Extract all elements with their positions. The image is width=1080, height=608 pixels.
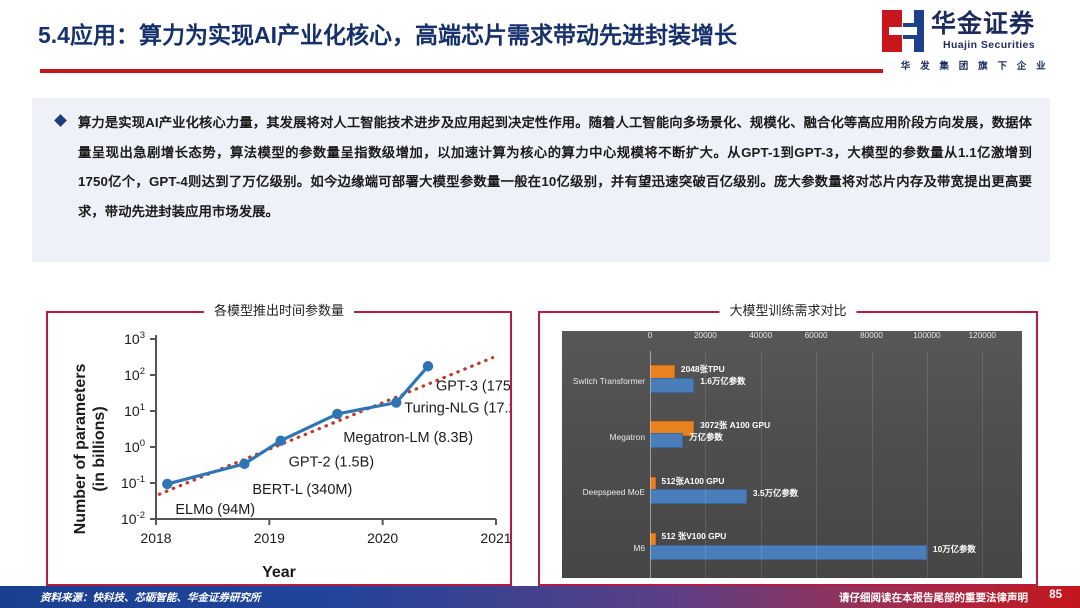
footer-source: 资料来源：快科技、芯砺智能、华金证券研究所 [40, 590, 261, 605]
bar-value-label: 万亿参数 [683, 431, 723, 443]
logo-name-cn: 华金证券 [931, 11, 1035, 37]
svg-text:102: 102 [124, 366, 145, 383]
svg-text:2019: 2019 [254, 530, 285, 546]
bar-chart-rows: Switch Transformer2048张TPU1.6万亿参数Megatro… [562, 353, 1022, 576]
svg-text:Megatron-LM (8.3B): Megatron-LM (8.3B) [343, 430, 473, 446]
page-footer: 资料来源：快科技、芯砺智能、华金证券研究所 请仔细阅读在本报告尾部的重要法律声明… [0, 586, 1080, 608]
svg-text:100: 100 [124, 438, 145, 455]
bar-params [650, 378, 694, 393]
x-tick-label: 40000 [749, 331, 772, 340]
header-divider [40, 69, 883, 73]
svg-text:ELMo (94M): ELMo (94M) [175, 502, 255, 518]
bar-group: Deepspeed MoE512张A100 GPU3.5万亿参数 [562, 465, 1022, 521]
svg-text:10-2: 10-2 [121, 510, 145, 527]
svg-text:GPT-2 (1.5B): GPT-2 (1.5B) [289, 455, 374, 471]
svg-text:101: 101 [124, 402, 145, 419]
x-tick-label: 20000 [694, 331, 717, 340]
svg-text:103: 103 [124, 330, 145, 347]
bar-chart-x-axis: 020000400006000080000100000120000 [562, 331, 1022, 351]
gridline [816, 351, 817, 578]
bar-category-label: M6 [562, 543, 650, 553]
bar-value-label: 512 张V100 GPU [656, 530, 727, 542]
logo-name-en: Huajin Securities [931, 39, 1035, 51]
page-title: 5.4应用：算力为实现AI产业化核心，高端芯片需求带动先进封装增长 [38, 16, 737, 50]
gridline [872, 351, 873, 578]
chart-title-right: 大模型训练需求对比 [719, 300, 856, 319]
chart-panel-right: 大模型训练需求对比 020000400006000080000100000120… [538, 311, 1038, 586]
bar-value-label: 512张A100 GPU [656, 475, 725, 487]
svg-text:Turing-NLG (17.2B): Turing-NLG (17.2B) [404, 401, 510, 417]
x-tick-label: 100000 [913, 331, 940, 340]
content-paragraph: 算力是实现AI产业化核心力量，其发展将对人工智能技术进步及应用起到决定性作用。随… [78, 108, 1032, 226]
logo-mark-icon [882, 10, 924, 52]
diamond-bullet-icon [54, 114, 67, 127]
chart-title-left: 各模型推出时间参数量 [204, 300, 354, 319]
page-number: 85 [1049, 589, 1062, 601]
bar-category-label: Switch Transformer [562, 376, 650, 386]
gridline [705, 351, 706, 578]
logo-tagline: 华 发 集 团 旗 下 企 业 [882, 58, 1068, 72]
bar-value-label: 1.6万亿参数 [694, 375, 745, 387]
x-tick-label: 120000 [969, 331, 996, 340]
svg-text:2020: 2020 [367, 530, 398, 546]
svg-text:2018: 2018 [140, 530, 171, 546]
company-logo: 华金证券 Huajin Securities 华 发 集 团 旗 下 企 业 [882, 8, 1068, 80]
bar-value-label: 3.5万亿参数 [747, 487, 798, 499]
svg-text:BERT-L (340M): BERT-L (340M) [252, 482, 352, 498]
bar-category-label: Megatron [562, 432, 650, 442]
bar-group: Switch Transformer2048张TPU1.6万亿参数 [562, 353, 1022, 409]
line-chart-svg: 10-210-11001011021032018201920202021ELMo… [48, 313, 510, 563]
svg-text:10-1: 10-1 [121, 474, 145, 491]
gridline [982, 351, 983, 578]
x-tick-label: 60000 [805, 331, 828, 340]
content-callout-box: 算力是实现AI产业化核心力量，其发展将对人工智能技术进步及应用起到决定性作用。随… [32, 98, 1050, 262]
x-axis-label-left: Year [48, 564, 510, 582]
bar-group: M6512 张V100 GPU10万亿参数 [562, 520, 1022, 576]
svg-text:GPT-3 (175B): GPT-3 (175B) [436, 378, 510, 394]
bar-params [650, 489, 747, 504]
bar-params [650, 433, 683, 448]
gridline [761, 351, 762, 578]
bar-params [650, 545, 927, 560]
page-header: 5.4应用：算力为实现AI产业化核心，高端芯片需求带动先进封装增长 华金证券 H… [0, 0, 1080, 88]
x-tick-label: 0 [648, 331, 653, 340]
bar-value-label: 2048张TPU [675, 363, 725, 375]
bar-category-label: Deepspeed MoE [562, 487, 650, 497]
bar-value-label: 10万亿参数 [927, 543, 976, 555]
chart-panel-left: 各模型推出时间参数量 Number of parameters (in bill… [46, 311, 512, 586]
bar-group: Megatron3072张 A100 GPU万亿参数 [562, 409, 1022, 465]
bar-chart-plot: 020000400006000080000100000120000 Switch… [562, 331, 1022, 578]
gridline [927, 351, 928, 578]
zero-axis-line [650, 351, 651, 578]
footer-disclaimer: 请仔细阅读在本报告尾部的重要法律声明 [839, 590, 1028, 605]
x-tick-label: 80000 [860, 331, 883, 340]
svg-text:2021: 2021 [480, 530, 510, 546]
